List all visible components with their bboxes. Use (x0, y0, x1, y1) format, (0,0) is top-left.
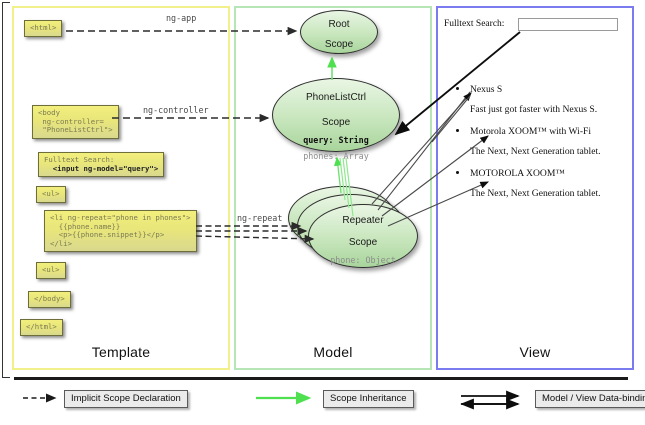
edge-scope-inheritance-repeater (337, 158, 353, 216)
legend-label-scope-inheritance: Scope Inheritance (323, 390, 414, 408)
edge-databinding-item-1-arrow (372, 93, 471, 204)
legend-label-data-binding: Model / View Data-binding (535, 390, 645, 408)
edge-databinding-item-2 (382, 136, 488, 216)
legend: Implicit Scope Declaration Scope Inherit… (0, 384, 645, 422)
edge-databinding-item-3 (388, 182, 488, 226)
edge-databinding-nexus (432, 96, 470, 142)
double-arrow-icon (460, 390, 526, 410)
edge-ng-repeat (196, 226, 313, 239)
edge-label-ng-repeat: ng-repeat (237, 213, 282, 223)
edge-databinding-query (396, 32, 520, 134)
dashed-arrow-icon (22, 390, 62, 406)
edge-label-ng-controller: ng-controller (143, 105, 209, 115)
legend-divider (14, 377, 628, 380)
connector-overlay (0, 0, 645, 425)
green-arrow-icon (255, 390, 315, 406)
legend-label-implicit-scope: Implicit Scope Declaration (64, 390, 188, 408)
edge-label-ng-app: ng-app (166, 13, 196, 23)
